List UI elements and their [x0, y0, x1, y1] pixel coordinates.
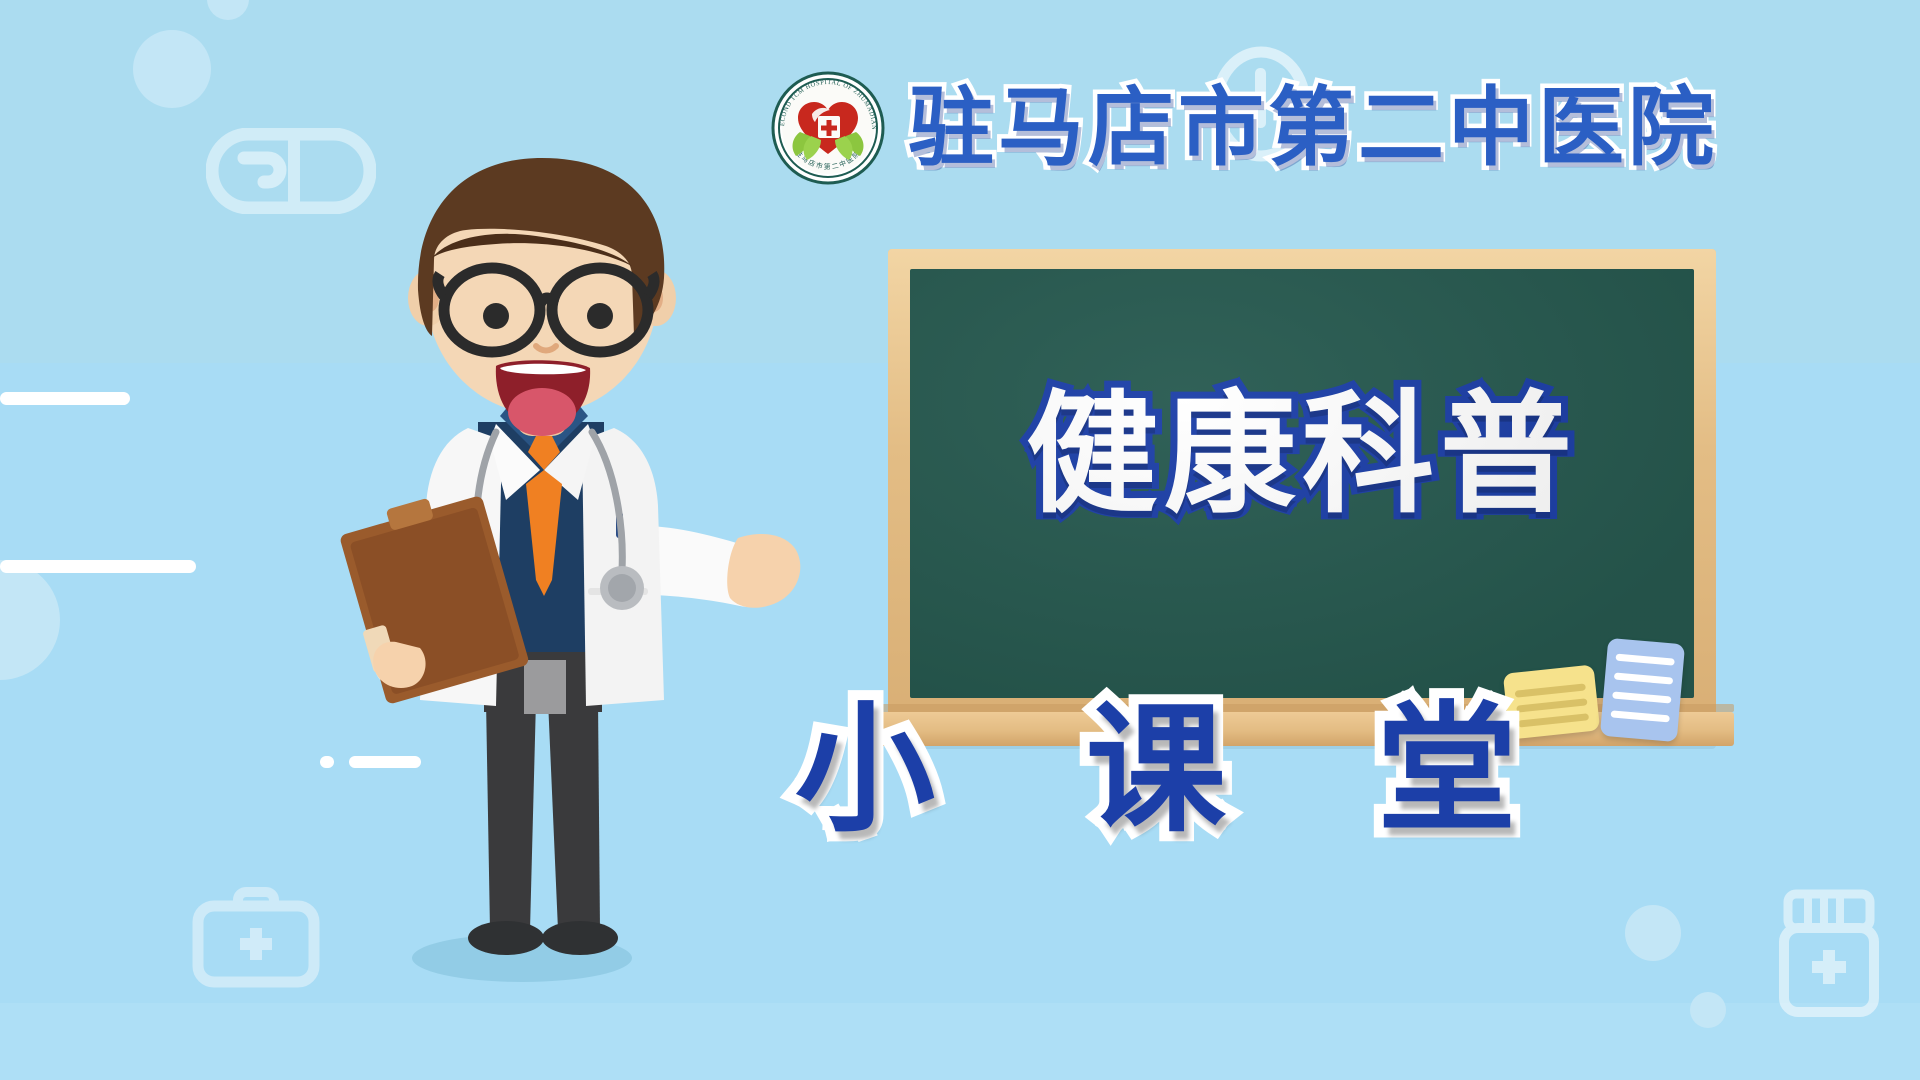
- hospital-name-title: 驻马店市第二中医院: [908, 85, 1718, 171]
- soft-circle-top: [133, 30, 211, 108]
- dash-line-long: [0, 392, 130, 405]
- header: SECOND TCM HOSPITAL OF ZHUMADIAN 驻马店市第二中…: [770, 68, 1718, 188]
- title-card-canvas: 健康科普 SEC: [0, 0, 1920, 1080]
- background-bottom-band: [0, 1003, 1920, 1080]
- soft-circle-mid-2: [1690, 992, 1726, 1028]
- medicine-bottle-icon: [1776, 888, 1882, 1020]
- chalkboard-headline: 健康科普: [910, 389, 1694, 521]
- cartoon-doctor-character: [300, 140, 860, 990]
- dash-line-left-lower: [0, 560, 196, 573]
- soft-circle-mid: [1625, 905, 1681, 961]
- sticky-note-blue: [1600, 638, 1685, 742]
- chalkboard-surface: 健康科普: [910, 269, 1694, 698]
- slogan-text: 小 课 堂: [795, 700, 1573, 840]
